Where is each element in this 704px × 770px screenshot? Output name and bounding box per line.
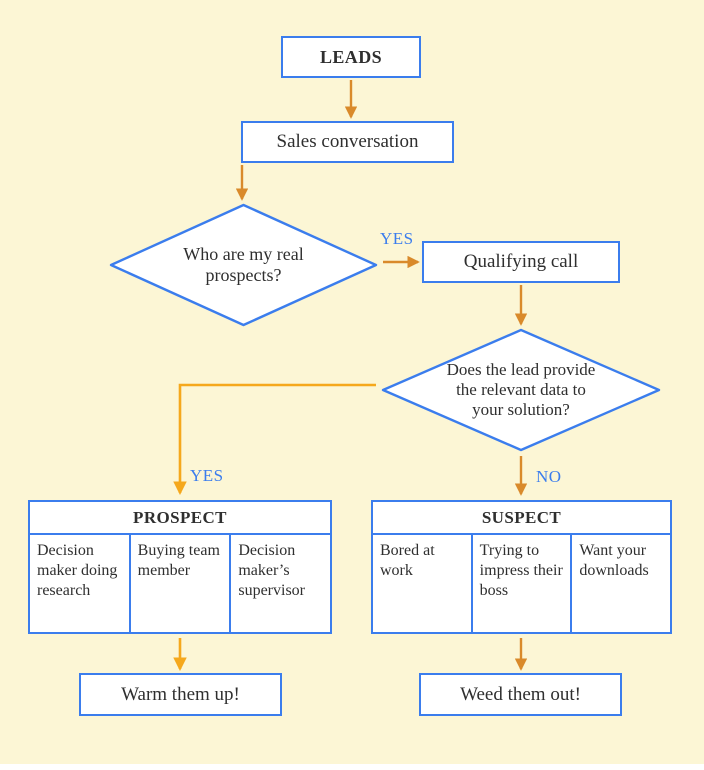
node-warm-them-up-label: Warm them up! [115, 684, 246, 706]
table-cell: Buying team member [129, 535, 230, 632]
edge-label-yes-qualifying: YES [380, 229, 414, 249]
node-weed-them-out[interactable]: Weed them out! [419, 673, 622, 716]
node-warm-them-up[interactable]: Warm them up! [79, 673, 282, 716]
table-suspect-body: Bored at work Trying to impress their bo… [373, 535, 670, 632]
node-prospects-question[interactable]: Who are my real prospects? [106, 202, 381, 328]
table-suspect[interactable]: SUSPECT Bored at work Trying to impress … [371, 500, 672, 634]
node-leads[interactable]: LEADS [281, 36, 421, 78]
node-relevant-data-question[interactable]: Does the lead provide the relevant data … [378, 327, 664, 453]
table-cell: Trying to impress their boss [471, 535, 571, 632]
table-prospect-body: Decision maker doing research Buying tea… [30, 535, 330, 632]
node-qualifying-call[interactable]: Qualifying call [422, 241, 620, 283]
node-leads-label: LEADS [314, 47, 388, 68]
table-cell: Decision maker doing research [30, 535, 129, 632]
node-qualifying-call-label: Qualifying call [458, 251, 585, 273]
edge-label-no-suspect: NO [536, 467, 562, 487]
node-weed-them-out-label: Weed them out! [454, 684, 587, 706]
node-prospects-question-label: Who are my real prospects? [106, 202, 381, 328]
edge-label-yes-prospect: YES [190, 466, 224, 486]
table-cell: Decision maker’s supervisor [229, 535, 330, 632]
table-prospect[interactable]: PROSPECT Decision maker doing research B… [28, 500, 332, 634]
table-cell: Want your downloads [570, 535, 670, 632]
node-sales-conversation[interactable]: Sales conversation [241, 121, 454, 163]
table-prospect-header: PROSPECT [30, 502, 330, 535]
table-cell: Bored at work [373, 535, 471, 632]
node-relevant-data-question-label: Does the lead provide the relevant data … [378, 327, 664, 453]
node-sales-conversation-label: Sales conversation [271, 131, 425, 153]
flowchart-canvas: LEADS Sales conversation Who are my real… [0, 0, 704, 764]
table-suspect-header: SUSPECT [373, 502, 670, 535]
